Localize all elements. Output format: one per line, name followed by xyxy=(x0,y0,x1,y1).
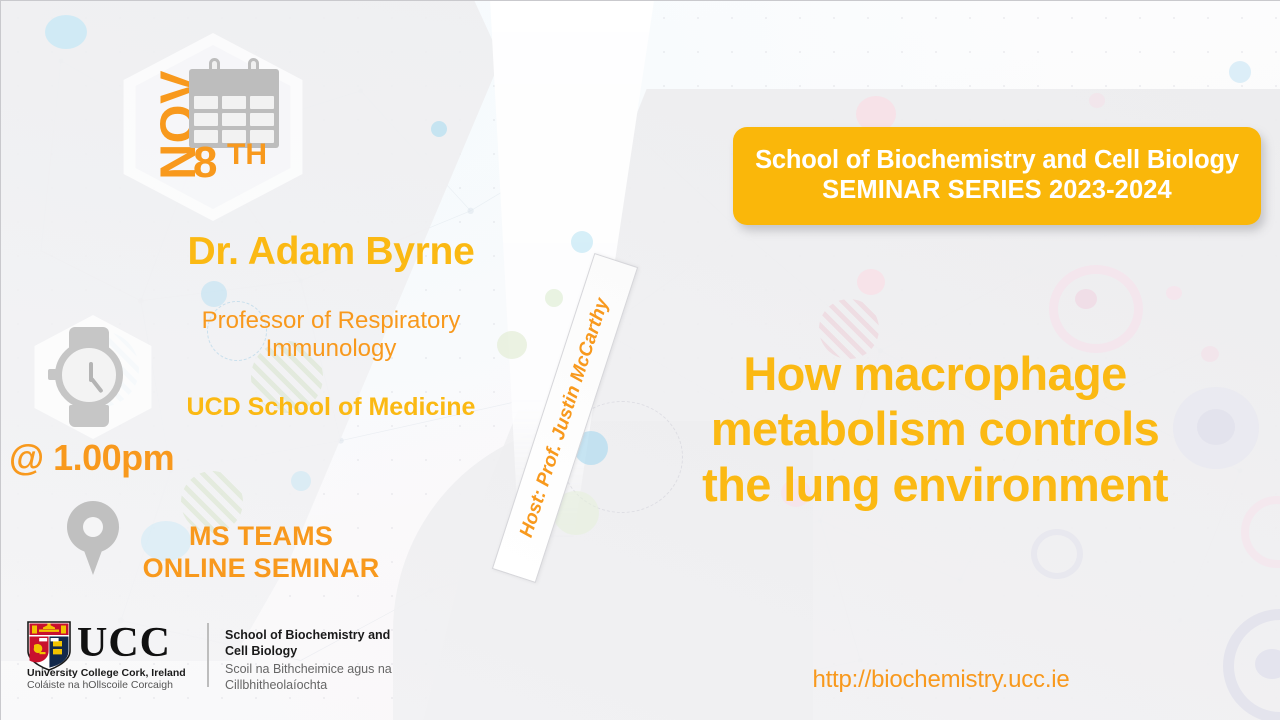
ucc-logo: UCC University College Cork, Ireland Col… xyxy=(27,621,417,691)
decor-blob-pink-3 xyxy=(857,269,885,295)
calendar-cell xyxy=(194,113,218,126)
department-name-en: School of Biochemistry and Cell Biology xyxy=(225,627,425,659)
title-line-3: the lung environment xyxy=(605,457,1265,512)
venue-line-2: ONLINE SEMINAR xyxy=(111,552,411,584)
calendar-icon xyxy=(189,58,279,148)
decor-ring-lavender-2 xyxy=(1031,529,1083,579)
website-url[interactable]: http://biochemistry.ucc.ie xyxy=(691,666,1191,694)
watch-icon xyxy=(43,327,135,427)
calendar-cell xyxy=(250,96,274,109)
speaker-role-line-1: Professor of Respiratory xyxy=(121,307,541,335)
logo-divider xyxy=(207,623,209,687)
speaker-affiliation: UCD School of Medicine xyxy=(81,393,581,422)
banner-line-1: School of Biochemistry and Cell Biology xyxy=(755,146,1239,176)
venue-block: MS TEAMS ONLINE SEMINAR xyxy=(111,520,411,585)
calendar-cell xyxy=(250,113,274,126)
decor-blob-blue-8 xyxy=(291,471,311,491)
ucc-subtitle-ga: Coláiste na hOllscoile Corcaigh xyxy=(27,679,173,691)
speaker-role-line-2: Immunology xyxy=(121,335,541,363)
title-line-2: metabolism controls xyxy=(605,401,1265,456)
decor-blob-blue-7 xyxy=(1229,61,1251,83)
decor-blob-blue-1 xyxy=(45,15,87,49)
decor-blob-pink-4 xyxy=(1166,286,1182,300)
ucc-wordmark: UCC xyxy=(77,619,171,667)
decor-blob-pink-2 xyxy=(1075,289,1097,309)
calendar-cell xyxy=(222,96,246,109)
decor-ring-pink-1 xyxy=(1049,265,1143,353)
banner-line-2: SEMINAR SERIES 2023-2024 xyxy=(822,176,1172,206)
speaker-name: Dr. Adam Byrne xyxy=(61,230,601,274)
ucc-subtitle-en: University College Cork, Ireland xyxy=(27,667,186,679)
calendar-header-band xyxy=(189,69,279,91)
department-ga-line-1: Scoil na Bithcheimice agus na xyxy=(225,661,435,677)
calendar-cell xyxy=(194,96,218,109)
speaker-role: Professor of Respiratory Immunology xyxy=(121,307,541,364)
date-block: NOV 8 TH xyxy=(131,46,331,206)
seminar-time: @ 1.00pm xyxy=(9,437,174,479)
venue-line-1: MS TEAMS xyxy=(111,520,411,552)
calendar-cell xyxy=(222,113,246,126)
title-line-1: How macrophage xyxy=(605,346,1265,401)
decor-blob-green-2 xyxy=(545,289,563,307)
day-number: 8 xyxy=(193,138,217,188)
pin-tail xyxy=(79,537,107,575)
department-name-ga: Scoil na Bithcheimice agus na Cillbhithe… xyxy=(225,661,435,693)
seminar-series-banner: School of Biochemistry and Cell Biology … xyxy=(733,127,1261,225)
decor-blob-blue-2 xyxy=(431,121,447,137)
department-en-line-2: Cell Biology xyxy=(225,643,425,659)
pin-hole xyxy=(83,517,103,537)
department-en-line-1: School of Biochemistry and xyxy=(225,627,425,643)
decor-blob-pink-7 xyxy=(1089,93,1105,108)
watch-face xyxy=(55,341,123,409)
ucc-crest-icon xyxy=(27,621,71,671)
seminar-poster: School of Biochemistry and Cell Biology … xyxy=(0,0,1280,720)
watch-minute-hand xyxy=(89,377,103,394)
day-ordinal: TH xyxy=(227,138,267,172)
seminar-title: How macrophage metabolism controls the l… xyxy=(605,346,1265,512)
department-ga-line-2: Cillbhitheolaíochta xyxy=(225,677,435,693)
